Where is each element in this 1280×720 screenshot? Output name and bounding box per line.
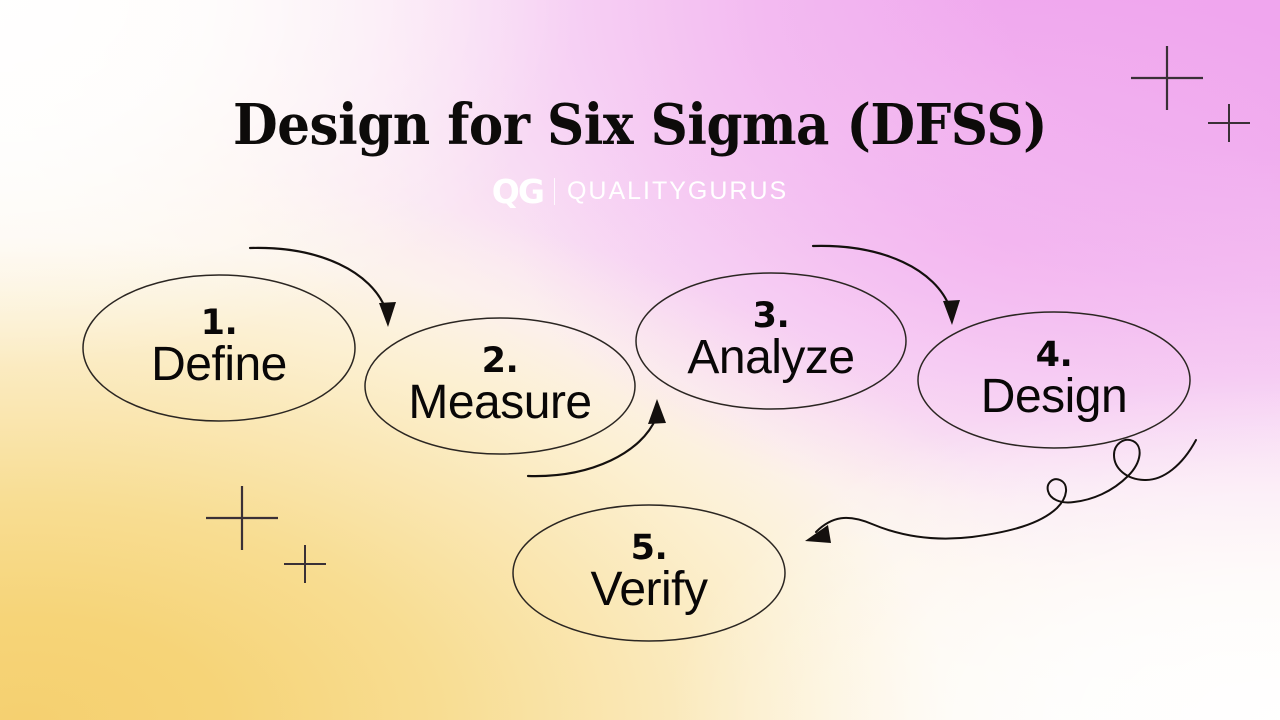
connector-define-to-measure xyxy=(250,248,396,327)
sparkle-bottom-left-large-icon xyxy=(206,486,278,550)
flow-graphics xyxy=(0,0,1280,720)
node-shape-verify xyxy=(513,505,785,641)
node-shape-analyze xyxy=(636,273,906,409)
node-shape-design xyxy=(918,312,1190,448)
sparkle-top-right-small-icon xyxy=(1208,104,1250,142)
slide-canvas: Design for Six Sigma (DFSS) QG QUALITYGU… xyxy=(0,0,1280,720)
sparkle-top-right-large-icon xyxy=(1131,46,1203,110)
node-shape-define xyxy=(83,275,355,421)
sparkle-bottom-left-small-icon xyxy=(284,545,326,583)
connector-analyze-to-design xyxy=(813,246,960,325)
node-shape-measure xyxy=(365,318,635,454)
connector-design-to-verify xyxy=(805,440,1196,543)
connector-measure-to-analyze xyxy=(528,399,666,476)
